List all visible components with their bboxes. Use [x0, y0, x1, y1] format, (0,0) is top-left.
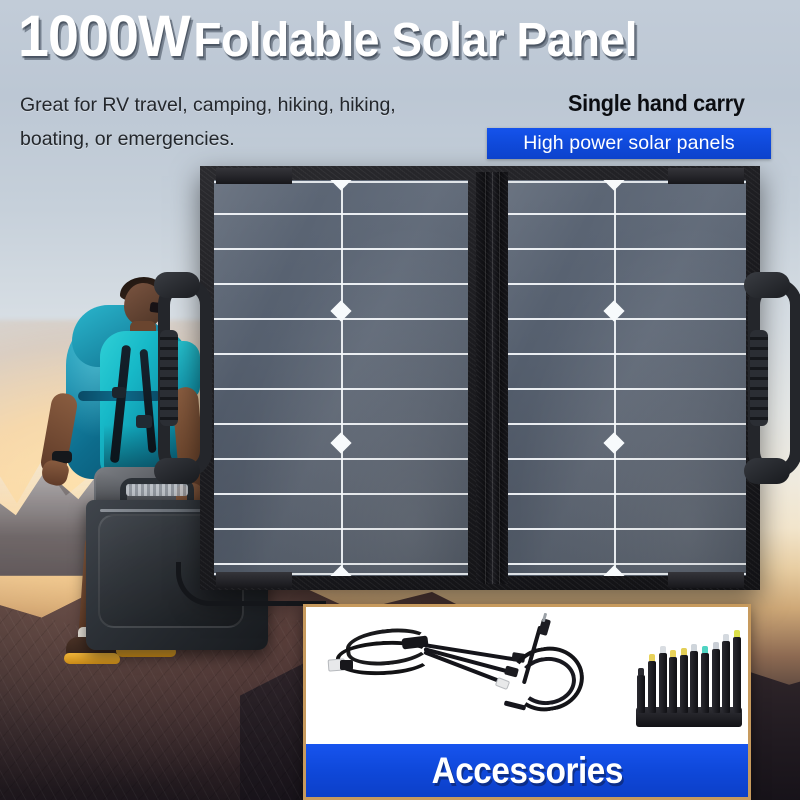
dc-tip-cap: [681, 648, 687, 655]
dc-tip-body: [637, 675, 645, 713]
handle-grip-pad: [160, 330, 178, 426]
strap-buckle: [136, 415, 152, 428]
handle-foam-bottom: [154, 458, 200, 484]
accessories-label: Accessories: [431, 750, 622, 792]
panel-output-cable: [176, 562, 326, 606]
dc-tip-cap: [691, 644, 697, 651]
handle-foam-top: [154, 272, 200, 298]
badge-label: High power solar panels: [523, 132, 735, 155]
dc-tip-body: [669, 657, 677, 713]
dc-tip-cap: [734, 630, 740, 637]
dc-tip-cap: [670, 650, 676, 657]
vertical-busbar-right: [614, 180, 616, 576]
panel-carry-handle-right: [748, 278, 800, 478]
panel-fold-hinge: [476, 172, 508, 584]
dc-tip-body: [722, 641, 730, 713]
dc-tip-cap: [702, 646, 708, 653]
dc-tip-cap: [649, 654, 655, 661]
frame-corner-top-right: [668, 168, 744, 184]
dc-tip-body: [659, 653, 667, 713]
title-product: Foldable Solar Panel: [193, 14, 637, 67]
panel-sheen-right: [492, 180, 746, 576]
hinge-seam: [492, 172, 493, 584]
handle-foam-bottom: [744, 458, 790, 484]
hinge-seam: [499, 172, 500, 584]
panel-carry-handle-left: [158, 278, 212, 478]
handle-grip-pad: [750, 330, 768, 426]
dc-tip-body: [701, 653, 709, 713]
frame-corner-bottom-right: [668, 572, 744, 588]
dc-tip-body: [712, 649, 720, 713]
accessories-title-bar: Accessories: [306, 744, 748, 797]
dc-tip-cap: [638, 668, 644, 675]
product-banner: 1000W Foldable Solar Panel Great for RV …: [0, 0, 800, 800]
frame-corner-top-left: [216, 168, 292, 184]
panel-wing-right: [492, 180, 746, 576]
title-wattage: 1000W: [18, 4, 190, 69]
dc-tip-cap: [713, 642, 719, 649]
subtitle-text: Great for RV travel, camping, hiking, hi…: [20, 88, 440, 156]
dc-tip-body: [690, 651, 698, 713]
dc-barrel-extension-cable: [502, 623, 612, 733]
panel-wing-left: [214, 180, 468, 576]
handle-foam-top: [744, 272, 790, 298]
page-title: 1000W Foldable Solar Panel: [18, 10, 690, 63]
strap-buckle-upper: [112, 387, 126, 398]
accessories-product-stage: [306, 607, 748, 747]
case-handle-grip: [126, 484, 188, 496]
dc-tip-body: [648, 661, 656, 713]
kicker-single-hand-carry: Single hand carry: [568, 90, 745, 117]
dc-tip-body: [680, 655, 688, 713]
usb-connector-neck: [340, 660, 353, 670]
dc-tip-cap: [723, 634, 729, 641]
accessories-card: Accessories: [303, 604, 751, 800]
dc-tip-connector-set: [636, 623, 742, 735]
hinge-seam: [485, 172, 486, 584]
badge-high-power: High power solar panels: [487, 128, 771, 159]
shoe-sole-left: [64, 653, 120, 664]
vertical-busbar-left: [341, 180, 343, 576]
solar-panel: [200, 166, 760, 590]
dc-tip-cap: [660, 646, 666, 653]
dc-tip-body: [733, 637, 741, 713]
